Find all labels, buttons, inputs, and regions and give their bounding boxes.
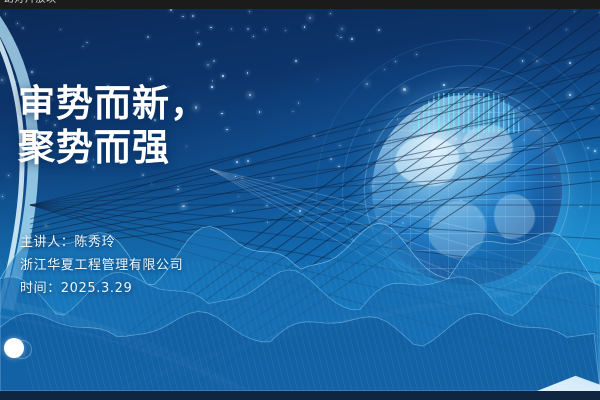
- slide-title: 审势而新， 聚势而强: [18, 82, 208, 170]
- slide-canvas[interactable]: 审势而新， 聚势而强 主讲人：陈秀玲 浙江华夏工程管理有限公司 时间：2025.…: [0, 9, 600, 391]
- date-line: 时间：2025.3.29: [20, 277, 183, 300]
- window-bottom-band: [0, 391, 600, 400]
- presentation-window: 幻灯片放映: [0, 0, 600, 400]
- window-top-strip: 幻灯片放映: [0, 0, 600, 9]
- bullet-marker: [4, 338, 24, 358]
- globe-data-crown: [388, 93, 546, 133]
- corner-wedge: [514, 353, 600, 391]
- presenter-line: 主讲人：陈秀玲: [20, 231, 183, 254]
- top-strip-label: 幻灯片放映: [4, 0, 57, 5]
- slide-meta: 主讲人：陈秀玲 浙江华夏工程管理有限公司 时间：2025.3.29: [20, 231, 183, 300]
- title-line-2: 聚势而强: [18, 126, 208, 170]
- title-line-1: 审势而新，: [18, 82, 208, 125]
- digital-globe: [364, 87, 570, 293]
- company-line: 浙江华夏工程管理有限公司: [20, 254, 183, 277]
